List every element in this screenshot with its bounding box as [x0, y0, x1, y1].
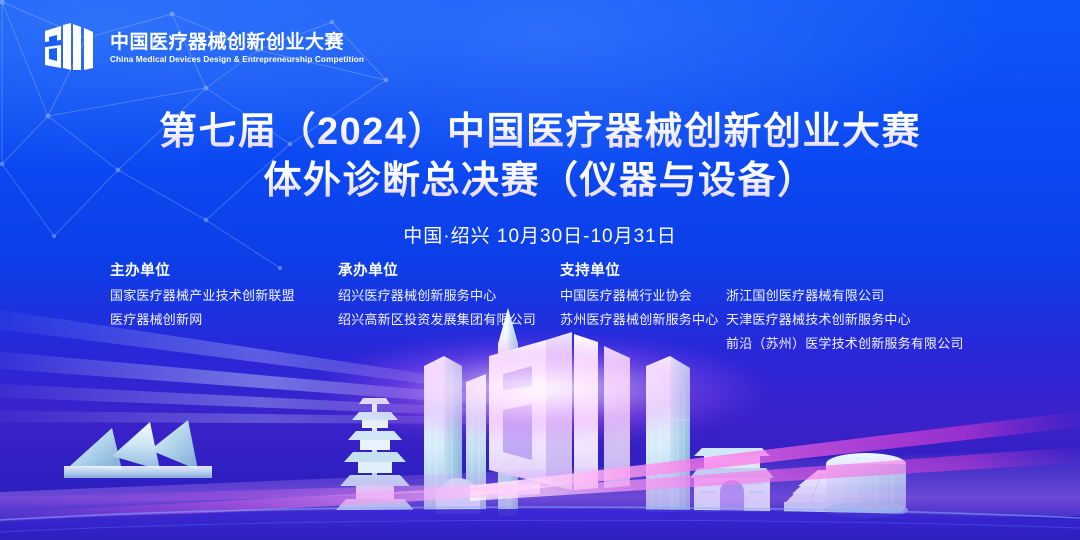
opera-house-landmark [64, 420, 212, 478]
organizer-item: 浙江国创医疗器械有限公司 [726, 289, 986, 302]
organizer-column-undertaker: 承办单位 绍兴医疗器械创新服务中心 绍兴高新区投资发展集团有限公司 [338, 264, 560, 326]
organizers-block: 主办单位 国家医疗器械产业技术创新联盟 医疗器械创新网 承办单位 绍兴医疗器械创… [110, 264, 986, 350]
organizer-item: 前沿（苏州）医学技术创新服务有限公司 [726, 337, 986, 350]
logo-chinese-name: 中国医疗器械创新创业大赛 [110, 33, 372, 52]
organizer-item: 国家医疗器械产业技术创新联盟 [110, 289, 338, 302]
title-line-2: 体外诊断总决赛（仪器与设备） [0, 157, 1080, 206]
logo-monument-landmark [489, 332, 630, 490]
organizer-item: 苏州医疗器械创新服务中心 [560, 313, 726, 326]
organizer-item: 医疗器械创新网 [110, 313, 338, 326]
competition-logo-mark [40, 20, 98, 76]
organizer-column-supporter-overflow: 浙江国创医疗器械有限公司 天津医疗器械技术创新服务中心 前沿（苏州）医学技术创新… [726, 264, 986, 350]
organizer-item: 绍兴医疗器械创新服务中心 [338, 289, 560, 302]
organizer-column-supporter: 支持单位 中国医疗器械行业协会 苏州医疗器械创新服务中心 [560, 264, 726, 326]
organizer-item: 绍兴高新区投资发展集团有限公司 [338, 313, 560, 326]
organizer-column-host: 主办单位 国家医疗器械产业技术创新联盟 医疗器械创新网 [110, 264, 338, 326]
organizer-heading: 支持单位 [560, 264, 726, 279]
conference-banner: 中国医疗器械创新创业大赛 China Medical Devices Desig… [0, 0, 1080, 540]
title-block: 第七届（2024）中国医疗器械创新创业大赛 体外诊断总决赛（仪器与设备） 中国·… [0, 108, 1080, 248]
event-location-date: 中国·绍兴 10月30日-10月31日 [0, 221, 1080, 248]
organizer-item: 天津医疗器械技术创新服务中心 [726, 313, 986, 326]
title-line-1: 第七届（2024）中国医疗器械创新创业大赛 [0, 108, 1080, 157]
competition-logo: 中国医疗器械创新创业大赛 China Medical Devices Desig… [40, 20, 372, 76]
organizer-item: 中国医疗器械行业协会 [560, 289, 726, 302]
organizer-heading: 承办单位 [338, 264, 560, 279]
logo-english-name: China Medical Devices Design & Entrepren… [110, 55, 364, 64]
organizer-heading: 主办单位 [110, 264, 338, 279]
